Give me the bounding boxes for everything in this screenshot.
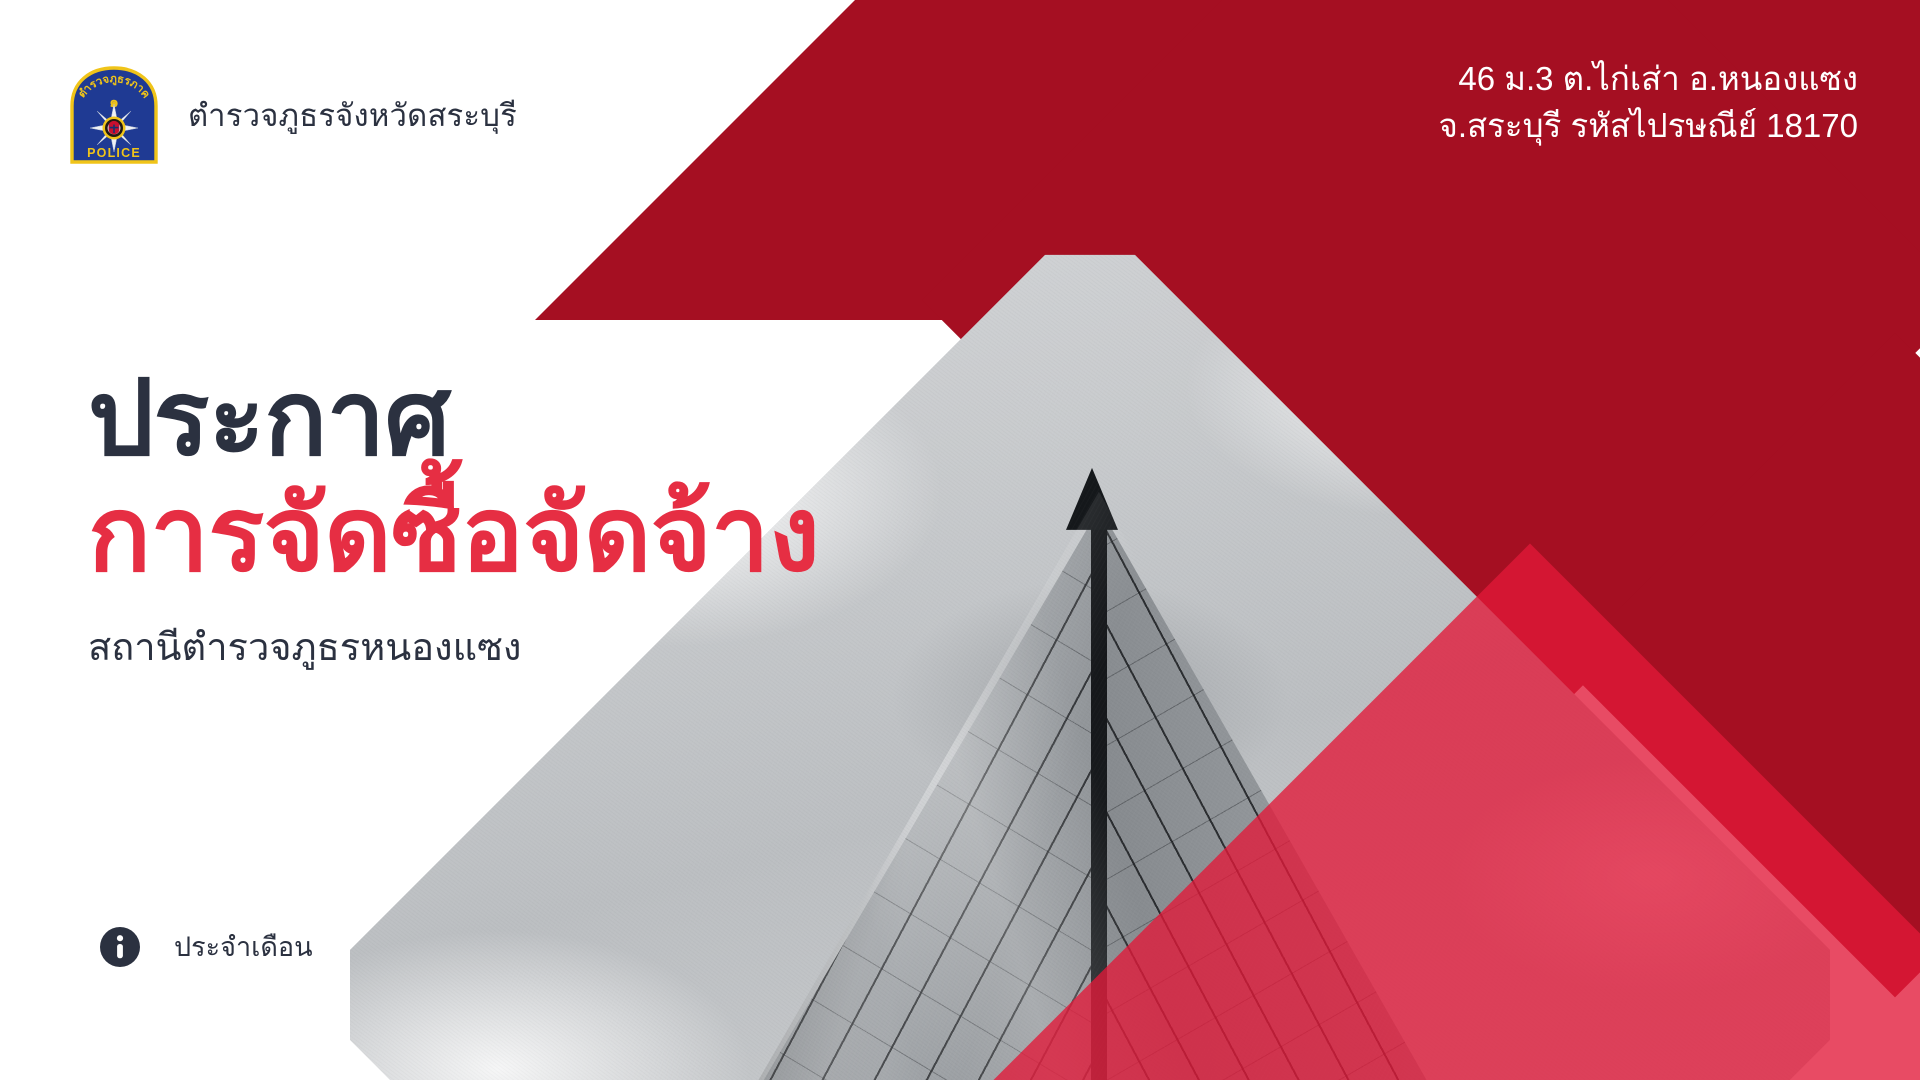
page-title-secondary: การจัดซื้อจัดจ้าง [88,480,1068,590]
headline-block: ประกาศ การจัดซื้อจัดจ้าง สถานีตำรวจภูธรห… [88,364,1068,674]
address-line-1: 46 ม.3 ต.ไก่เส่า อ.หนองแซง [1439,56,1858,103]
page-title-primary: ประกาศ [88,364,1068,474]
crest-police-label: POLICE [87,146,141,160]
crest-starburst [90,104,138,152]
period-label: ประจำเดือน [174,925,313,968]
page-subtitle: สถานีตำรวจภูธรหนองแซง [88,624,1068,673]
info-circle-icon [100,927,140,967]
brand-lockup: ตำรวจภูธรภาค ๑ [62,62,517,168]
footer-meta-row: ประจำเดือน [100,925,313,968]
organization-name: ตำรวจภูธรจังหวัดสระบุรี [188,90,517,140]
address-line-2: จ.สระบุรี รหัสไปรษณีย์ 18170 [1439,103,1858,150]
address-block: 46 ม.3 ต.ไก่เส่า อ.หนองแซง จ.สระบุรี รหั… [1439,56,1858,150]
police-shield-crest-icon: ตำรวจภูธรภาค ๑ [62,62,166,168]
content-layer: ตำรวจภูธรภาค ๑ [0,0,1920,1080]
announcement-poster: ตำรวจภูธรภาค ๑ [0,0,1920,1080]
